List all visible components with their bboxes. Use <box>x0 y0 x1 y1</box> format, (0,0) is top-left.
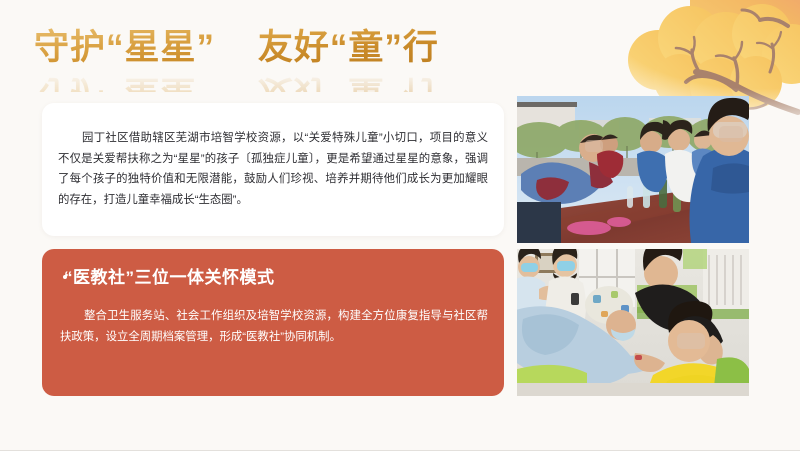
page-title-reflection: 守护“星星” 友好“童”行 <box>34 70 554 92</box>
care-model-card: “医教社”三位一体关怀模式 整合卫生服务站、社会工作组织及培智学校资源，构建全方… <box>42 249 504 396</box>
care-model-paragraph: 整合卫生服务站、社会工作组织及培智学校资源，构建全方位康复指导与社区帮扶政策，设… <box>60 306 488 348</box>
photo-rehabilitation-checkup <box>517 249 749 396</box>
photo-outdoor-activity <box>517 96 749 243</box>
intro-card: 园丁社区借助辖区芜湖市培智学校资源，以“关爱特殊儿童”小切口，项目的意义不仅是关… <box>42 103 504 236</box>
care-model-heading: “医教社”三位一体关怀模式 <box>64 263 275 288</box>
page-title: 守护“星星” 友好“童”行 守护“星星” 友好“童”行 <box>34 26 554 92</box>
slide-canvas: 守护“星星” 友好“童”行 守护“星星” 友好“童”行 园丁社区借助辖区芜湖市培… <box>0 0 800 451</box>
page-title-reflection-text: 守护“星星” 友好“童”行 <box>34 70 554 92</box>
intro-paragraph: 园丁社区借助辖区芜湖市培智学校资源，以“关爱特殊儿童”小切口，项目的意义不仅是关… <box>58 128 488 210</box>
page-title-text: 守护“星星” 友好“童”行 <box>34 26 554 70</box>
